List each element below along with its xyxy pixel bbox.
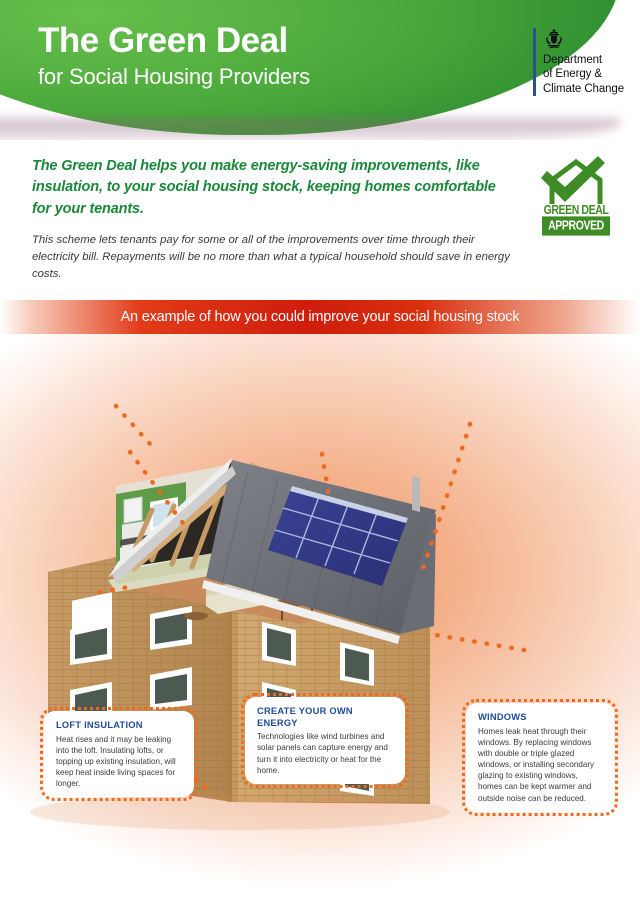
page-subtitle: for Social Housing Providers — [38, 64, 310, 90]
logo-line-2: of Energy & — [543, 67, 624, 81]
green-deal-approved-mark: GREEN DEAL APPROVED — [534, 154, 618, 240]
intro-body-text: This scheme lets tenants pay for some or… — [32, 232, 512, 283]
page-title: The Green Deal — [38, 22, 310, 60]
intro-lead-text: The Green Deal helps you make energy-sav… — [32, 156, 502, 220]
green-deal-label: GREEN DEAL — [534, 203, 618, 218]
callout-title: WINDOWS — [478, 712, 603, 724]
page-header: The Green Deal for Social Housing Provid… — [0, 0, 640, 140]
callout-create-your-own-energy[interactable]: CREATE YOUR OWN ENERGY Technologies like… — [245, 697, 405, 784]
callout-body: Technologies like wind turbines and sola… — [257, 731, 394, 776]
section-banner: An example of how you could improve your… — [0, 300, 640, 334]
logo-line-1: Department — [543, 53, 624, 67]
callout-windows[interactable]: WINDOWS Homes leak heat through their wi… — [466, 703, 614, 812]
infographic-page: The Green Deal for Social Housing Provid… — [0, 0, 640, 906]
callout-loft-insulation[interactable]: LOFT INSULATION Heat rises and it may be… — [44, 711, 194, 797]
approved-badge: APPROVED — [542, 216, 610, 235]
callout-title: CREATE YOUR OWN ENERGY — [257, 706, 394, 729]
logo-accent-bar — [533, 28, 536, 96]
logo-line-3: Climate Change — [543, 82, 624, 96]
royal-coat-of-arms-icon — [543, 28, 565, 50]
callout-body: Homes leak heat through their windows. B… — [478, 726, 603, 804]
header-title-group: The Green Deal for Social Housing Provid… — [38, 22, 310, 90]
illustration-section: LOFT INSULATION Heat rises and it may be… — [0, 334, 640, 906]
banner-text: An example of how you could improve your… — [121, 309, 520, 325]
callout-title: LOFT INSULATION — [56, 720, 183, 732]
cutaway-house-illustration — [0, 334, 640, 906]
callout-body: Heat rises and it may be leaking into th… — [56, 734, 183, 790]
logo-text-group: Department of Energy & Climate Change — [543, 28, 624, 96]
decc-logo: Department of Energy & Climate Change — [533, 28, 624, 96]
intro-section: The Green Deal helps you make energy-sav… — [0, 140, 640, 300]
